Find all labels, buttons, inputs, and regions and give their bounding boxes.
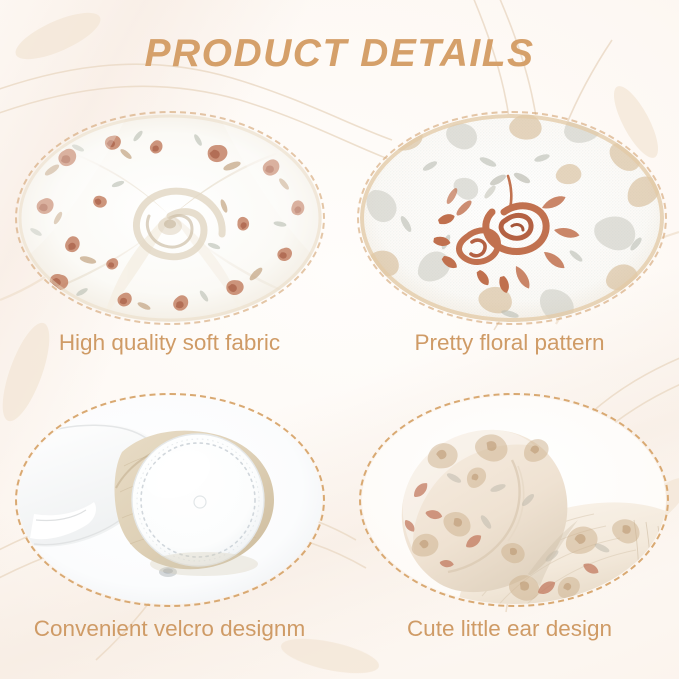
detail-item-convenient-velcro-design: Convenient velcro designm bbox=[0, 390, 339, 668]
product-details-page: PRODUCT DETAILS bbox=[0, 0, 679, 679]
detail-caption: High quality soft fabric bbox=[0, 330, 339, 356]
detail-caption: Pretty floral pattern bbox=[340, 330, 679, 356]
detail-item-cute-little-ear-design: Cute little ear design bbox=[340, 390, 679, 668]
details-grid: High quality soft fabric bbox=[0, 108, 679, 668]
detail-item-pretty-floral-pattern: Pretty floral pattern bbox=[340, 108, 679, 386]
detail-caption: Convenient velcro designm bbox=[0, 616, 339, 642]
page-title: PRODUCT DETAILS bbox=[0, 32, 679, 76]
detail-image-frame bbox=[360, 114, 664, 322]
detail-caption: Cute little ear design bbox=[340, 616, 679, 642]
detail-image-frame bbox=[18, 396, 322, 604]
floral-pattern-closeup-photo bbox=[360, 114, 664, 322]
little-ear-detail-photo bbox=[362, 396, 666, 604]
detail-image-frame bbox=[18, 114, 322, 322]
velcro-disc-photo bbox=[18, 396, 322, 604]
swirled-floral-fabric-photo bbox=[18, 114, 322, 322]
detail-item-high-quality-soft-fabric: High quality soft fabric bbox=[0, 108, 339, 386]
